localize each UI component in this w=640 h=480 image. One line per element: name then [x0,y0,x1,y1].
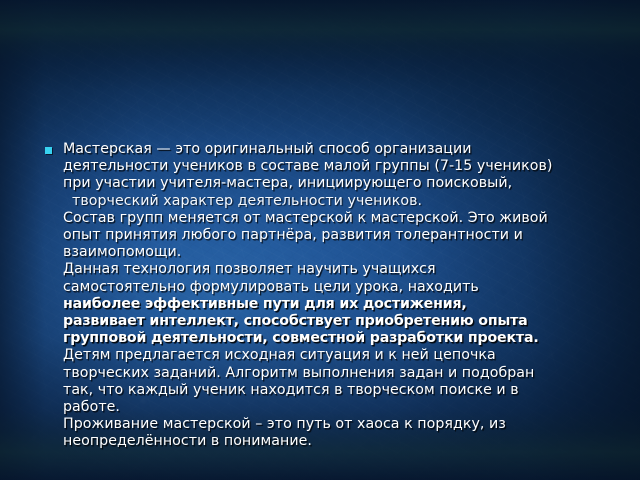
body-text-line: творческих заданий. Алгоритм выполнения … [63,365,603,382]
body-text-line: работе. [63,399,603,416]
body-text-line: неопределённости в понимание. [63,433,603,450]
body-text-line: Мастерская — это оригинальный способ орг… [63,141,603,158]
body-text-line: опыт принятия любого партнёра, развития … [63,227,603,244]
slide-canvas: Мастерская — это оригинальный способ орг… [0,0,640,480]
slide-content-area: Мастерская — это оригинальный способ орг… [0,0,640,480]
square-bullet-icon [45,147,52,154]
body-text-line: творческий характер деятельности ученико… [63,193,603,210]
body-text-line: Детям предлагается исходная ситуация и к… [63,347,603,364]
body-text-line: деятельности учеников в составе малой гр… [63,158,603,175]
body-text-line: групповой деятельности, совместной разра… [63,330,603,347]
body-text-line: взаимопомощи. [63,244,603,261]
body-text-line: Проживание мастерской – это путь от хаос… [63,416,603,433]
body-text-line: самостоятельно формулировать цели урока,… [63,279,603,296]
body-text-lines: Мастерская — это оригинальный способ орг… [63,141,603,451]
body-text-line: так, что каждый ученик находится в творч… [63,382,603,399]
body-text-line: развивает интеллект, способствует приобр… [63,313,603,330]
body-text-line: наиболее эффективные пути для их достиже… [63,296,603,313]
body-text-line: при участии учителя-мастера, инициирующе… [63,175,603,192]
body-text-line: Данная технология позволяет научить учащ… [63,261,603,278]
body-text-line: Состав групп меняется от мастерской к ма… [63,210,603,227]
